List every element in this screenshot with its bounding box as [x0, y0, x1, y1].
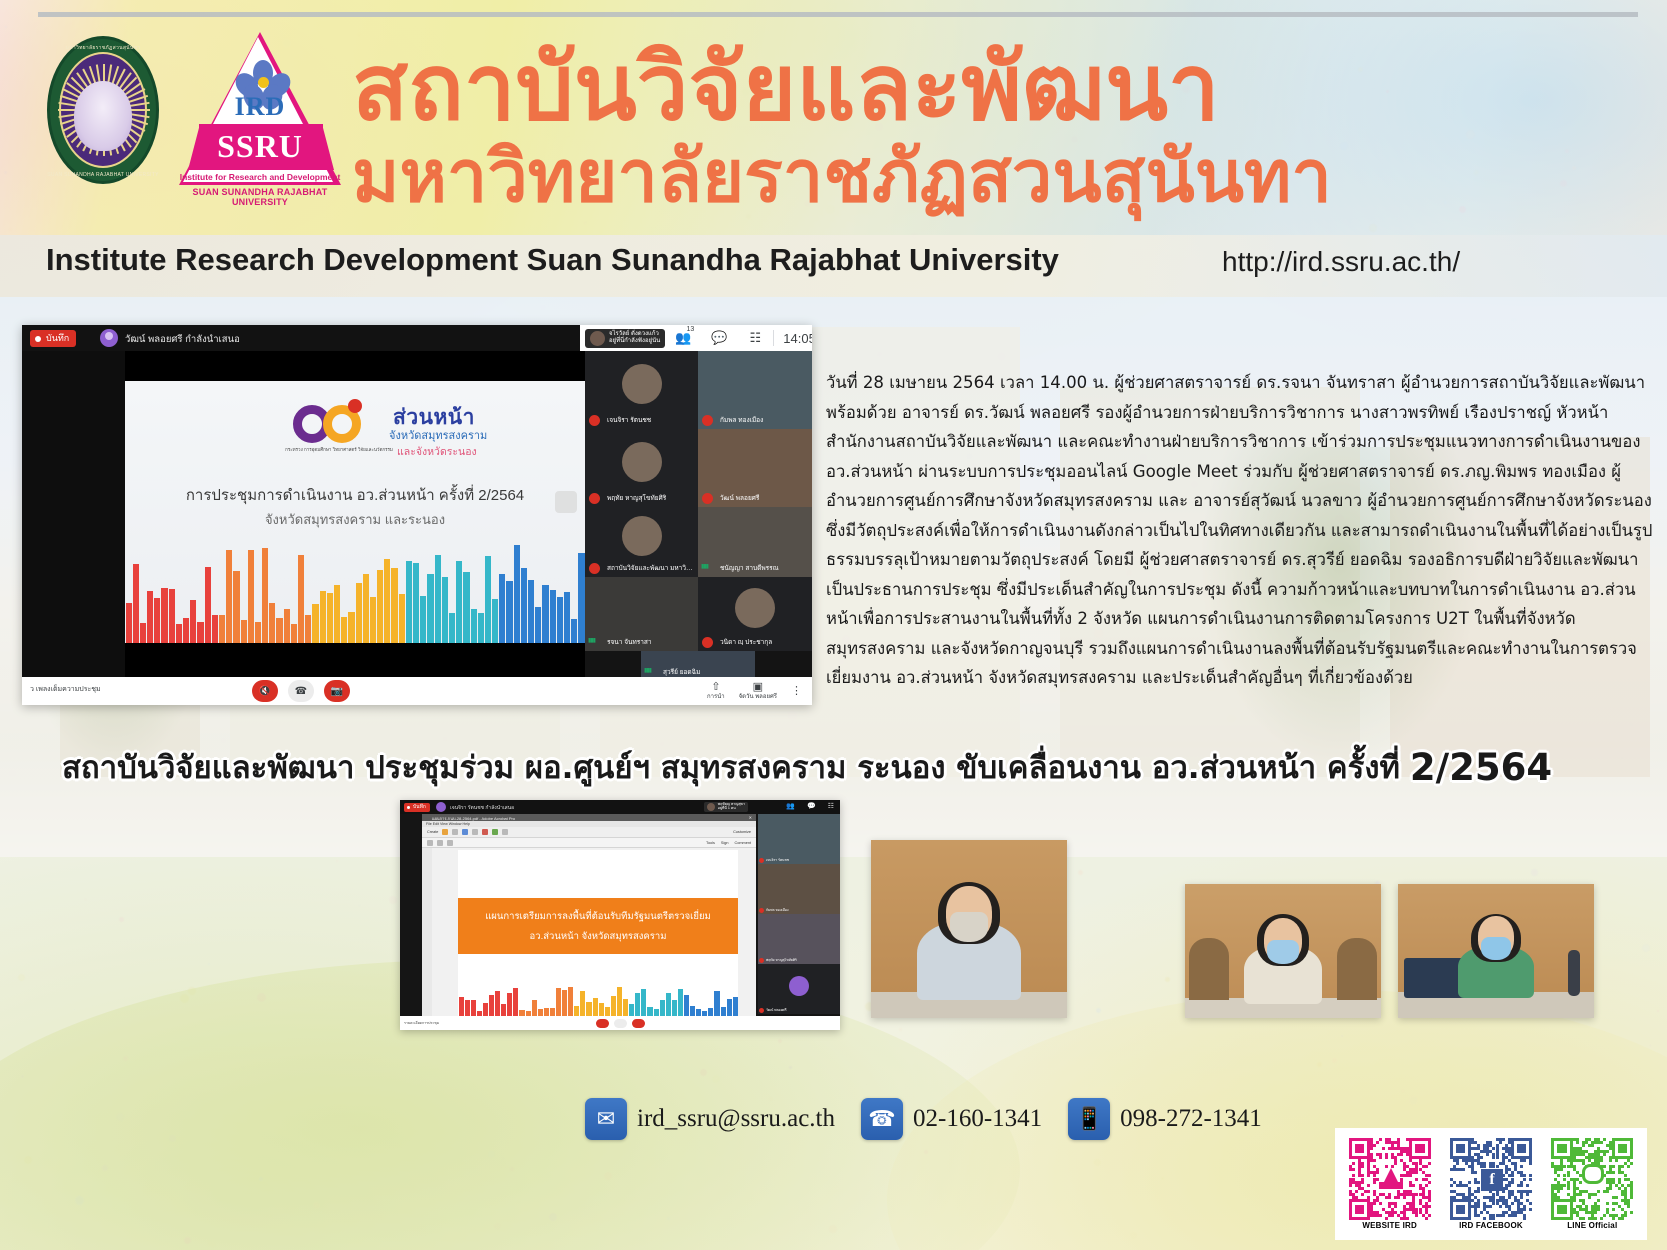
shot2-mic-muted-icon	[759, 1008, 764, 1013]
contact-phone[interactable]: ☎ 02-160-1341	[861, 1098, 1042, 1140]
mobile-value: 098-272-1341	[1120, 1105, 1262, 1133]
participant-tile[interactable]: เจนจิรา รัตนชช	[585, 351, 698, 429]
leave-call-button[interactable]: ☎	[288, 680, 314, 702]
university-seal-icon: มหาวิทยาลัยราชภัฏสวนสุนันทา SUAN SUNANDH…	[47, 36, 159, 184]
ministry-caption: กระทรวง การอุดมศึกษา วิทยาศาสตร์ วิจัยแล…	[275, 447, 403, 453]
recording-label: บันทึก	[46, 333, 69, 343]
participant-tile[interactable]: ชนัญญา สาบดีพรรณ	[698, 507, 812, 577]
shot2-pinned-line2: อยู่ที่นี่ 1 คน	[718, 807, 745, 811]
mute-microphone-button[interactable]: 🔇	[252, 680, 278, 702]
participant-name: กัมพล ทองเมือง	[720, 415, 763, 425]
line-icon	[1582, 1164, 1604, 1184]
participant-avatar	[622, 442, 662, 482]
contact-mobile[interactable]: 📱 098-272-1341	[1068, 1098, 1262, 1140]
recording-badge: บันทึก	[30, 330, 76, 347]
participant-avatar	[622, 516, 662, 556]
acrobat-fit-icon[interactable]	[447, 840, 453, 846]
ird-logo: IRD SSRU Institute for Research and Deve…	[175, 32, 345, 204]
shot2-presenter-avatar	[436, 802, 446, 812]
slide-subheading-1: จังหวัดสมุทรสงคราม	[389, 426, 487, 444]
qr-line-official[interactable]: LINE Official	[1551, 1138, 1633, 1230]
acrobat-tool-icon[interactable]	[472, 829, 478, 835]
mic-active-icon	[589, 637, 600, 648]
mic-muted-icon	[702, 637, 713, 648]
participant-tile[interactable]: กัมพล ทองเมือง	[698, 351, 812, 429]
participant-name: ชนัญญา สาบดีพรรณ	[720, 563, 779, 573]
shot2-participant-tile[interactable]: พฤทัย หาญสุโขทัยศิริ	[758, 914, 840, 964]
qr-ird-facebook[interactable]: f IRD FACEBOOK	[1450, 1138, 1532, 1230]
acrobat-tools-tab[interactable]: Tools	[706, 841, 715, 845]
participant-avatar	[622, 364, 662, 404]
qr-label: WEBSITE IRD	[1349, 1221, 1431, 1230]
acrobat-tool-icon[interactable]	[452, 829, 458, 835]
article-body: วันที่ 28 เมษายน 2564 เวลา 14.00 น. ผู้ช…	[826, 368, 1656, 693]
present-now-button[interactable]: ⇧การนำ	[707, 680, 725, 702]
ird-university-line: SUAN SUNANDHA RAJABHAT UNIVERSITY	[167, 187, 353, 207]
shot2-participant-name: วัฒน์ พลอยศรี	[766, 1008, 787, 1013]
participant-name: สถาบันวิจัยและพัฒนา มหาวิทยาล...	[607, 563, 694, 573]
participant-tile[interactable]: วัฒน์ พลอยศรี	[698, 429, 812, 507]
shot2-people-icon[interactable]: 👥	[786, 802, 795, 810]
shot2-mute-button[interactable]	[596, 1019, 609, 1028]
pdf-banner: แผนการเตรียมการลงพื้นที่ต้อนรับทีมรัฐมนต…	[458, 898, 738, 954]
shot2-activities-icon[interactable]: ☷	[828, 802, 834, 810]
presented-slide: กระทรวง การอุดมศึกษา วิทยาศาสตร์ วิจัยแล…	[125, 381, 585, 643]
participant-name: วนิดา ญฺ ประชากุล	[720, 637, 772, 647]
shot2-participant-tile[interactable]: วัฒน์ พลอยศรี	[758, 964, 840, 1014]
qr-code-panel: WEBSITE IRD f IRD FACEBOOK LINE Official	[1335, 1128, 1647, 1240]
acrobat-sidebar[interactable]	[422, 848, 432, 1030]
mic-muted-icon	[589, 493, 600, 504]
shot2-mic-muted-icon	[759, 858, 764, 863]
participant-count: 13	[687, 326, 695, 333]
shot2-mic-muted-icon	[759, 958, 764, 963]
contact-row: ✉ ird_ssru@ssru.ac.th ☎ 02-160-1341 📱 09…	[585, 1098, 1262, 1140]
mic-muted-icon	[702, 415, 713, 426]
qr-label: LINE Official	[1551, 1221, 1633, 1230]
slide-subtitle: จังหวัดสมุทรสงคราม และระนอง	[125, 509, 585, 530]
acrobat-tool-icon[interactable]	[482, 829, 488, 835]
participant-name: รจนา จันทราสา	[607, 637, 652, 647]
mic-active-icon	[702, 563, 713, 574]
page-title-thai-line1: สถาบันวิจัยและพัฒนา	[352, 42, 1220, 134]
poster-canvas: มหาวิทยาลัยราชภัฏสวนสุนันทา SUAN SUNANDH…	[0, 0, 1667, 1250]
pinned-name-line2: อยู่ที่นี่กำลังฟังอยู่นัน	[609, 338, 660, 345]
pdf-banner-line2: อว.ส่วนหน้า จังหวัดสมุทรสงคราม	[530, 929, 667, 944]
shot2-top-bar: บันทึก เจนจิรา รัตนชช กำลังนำเสนอ พฤทัยญ…	[400, 800, 840, 814]
meet-bottom-bar: ว เพลงเต็มความประชุม 🔇 ☎ 📷 ⇧การนำ ▣จัดวั…	[22, 677, 812, 705]
acrobat-toolbar-row1: Create Customize	[422, 827, 756, 838]
qr-label: IRD FACEBOOK	[1450, 1221, 1532, 1230]
shot2-pinned-chip[interactable]: พฤทัยญ หาญสุขา อยู่ที่นี่ 1 คน	[704, 802, 748, 812]
acrobat-customize-button[interactable]: Customize	[733, 830, 751, 834]
meet-header-right: จไรวัลย์ ดั่งดวงแก้ว อยู่ที่นี่กำลังฟังอ…	[580, 325, 812, 351]
slide-subheading-2: และจังหวัดระนอง	[397, 443, 477, 460]
shot2-presenter-status: เจนจิรา รัตนชช กำลังนำเสนอ	[450, 804, 514, 812]
ssru-wordmark: SSRU	[175, 128, 345, 165]
acrobat-create-button[interactable]: Create	[427, 830, 438, 834]
website-url[interactable]: http://ird.ssru.ac.th/	[1222, 246, 1460, 278]
mic-muted-icon	[589, 415, 600, 426]
google-meet-screenshot: บันทึก วัฒน์ พลอยศรี กำลังนำเสนอ จไรวัลย…	[22, 325, 812, 705]
email-value: ird_ssru@ssru.ac.th	[637, 1105, 835, 1133]
participant-tile[interactable]: วนิดา ญฺ ประชากุล	[698, 577, 812, 651]
shot2-recording-badge: บันทึก	[404, 803, 430, 812]
acrobat-tool-icon[interactable]	[502, 829, 508, 835]
acrobat-tool-icon[interactable]	[462, 829, 468, 835]
participant-tile[interactable]: พฤทัย หาญสุโขทัยศิริ	[585, 429, 698, 507]
sixty-anniversary-logo: กระทรวง การอุดมศึกษา วิทยาศาสตร์ วิจัยแล…	[293, 399, 385, 449]
shot2-mic-muted-icon	[759, 908, 764, 913]
participant-avatar	[735, 588, 775, 628]
presenting-indicator[interactable]: ▣จัดวัน พลอยศรี	[739, 680, 777, 702]
slide-title: การประชุมการดำเนินงาน อว.ส่วนหน้า ครั้งท…	[125, 483, 585, 507]
mic-muted-icon	[589, 563, 600, 574]
ird-mark-icon	[1378, 1168, 1404, 1190]
adobe-acrobat-window: แผนการ-กนบ-28-2564.pdf - Adobe Acrobat P…	[422, 814, 756, 1030]
poster-header: มหาวิทยาลัยราชภัฏสวนสุนันทา SUAN SUNANDH…	[0, 0, 1667, 300]
ird-wordmark: IRD	[175, 92, 345, 122]
mic-muted-icon	[702, 493, 713, 504]
telephone-icon: ☎	[861, 1098, 903, 1140]
meeting-clock: 14:05	[774, 331, 812, 346]
record-dot-icon	[35, 336, 41, 342]
seal-text-bottom: SUAN SUNANDHA RAJABHAT UNIVERSITY	[47, 172, 159, 178]
shot2-leave-button[interactable]	[614, 1019, 627, 1028]
shot2-bottom-bar: รายละเอียดการประชุม	[400, 1016, 840, 1030]
presenter-status: วัฒน์ พลอยศรี กำลังนำเสนอ	[125, 332, 240, 347]
participant-name: พฤทัย หาญสุโขทัยศิริ	[607, 493, 666, 503]
facebook-icon: f	[1481, 1169, 1503, 1191]
caption-bar: สถาบันวิจัยและพัฒนา ประชุมร่วม ผอ.ศูนย์ฯ…	[0, 738, 1667, 796]
acrobat-zoom-icon[interactable]	[437, 840, 443, 846]
caption-issue-number: 2/2564	[1410, 746, 1552, 789]
shot2-participant-tile[interactable]: เจนจิรา รัตนชช	[758, 814, 840, 864]
caption-text: สถาบันวิจัยและพัฒนา ประชุมร่วม ผอ.ศูนย์ฯ…	[62, 742, 1400, 792]
acrobat-comment-tab[interactable]: Comment	[735, 841, 751, 845]
slide-next-button[interactable]	[555, 491, 577, 513]
acrobat-tool-icon[interactable]	[442, 829, 448, 835]
slide-decorative-bars	[125, 535, 585, 643]
acrobat-toolbar-row2: Tools Sign Comment	[422, 838, 756, 848]
people-icon[interactable]: 👥13	[665, 330, 701, 346]
phone-value: 02-160-1341	[913, 1105, 1042, 1133]
participant-grid: เจนจิรา รัตนชชกัมพล ทองเมืองพฤทัย หาญสุโ…	[585, 351, 812, 681]
contact-email[interactable]: ✉ ird_ssru@ssru.ac.th	[585, 1098, 835, 1140]
pinned-avatar	[590, 331, 605, 346]
page-title-english: Institute Research Development Suan Suna…	[46, 242, 1059, 278]
presenter-avatar	[100, 329, 118, 347]
shot2-participant-name: กัมพล ทองเมือง	[766, 908, 789, 913]
seal-text-top: มหาวิทยาลัยราชภัฏสวนสุนันทา	[47, 44, 159, 52]
turn-off-camera-button[interactable]: 📷	[324, 680, 350, 702]
acrobat-meet-screenshot: บันทึก เจนจิรา รัตนชช กำลังนำเสนอ พฤทัยญ…	[400, 800, 840, 1030]
shot2-participant-tile[interactable]: กัมพล ทองเมือง	[758, 864, 840, 914]
shot2-participant-name: เจนจิรา รัตนชช	[766, 858, 789, 863]
participant-name: เจนจิรา รัตนชช	[607, 415, 651, 425]
acrobat-sign-tab[interactable]: Sign	[721, 841, 729, 845]
pinned-name-line1: จไรวัลย์ ดั่งดวงแก้ว	[609, 331, 660, 338]
ird-tagline: Institute for Research and Development	[175, 172, 345, 182]
qr-code-image	[1551, 1138, 1633, 1220]
qr-code-image	[1349, 1138, 1431, 1220]
acrobat-tool-icon[interactable]	[492, 829, 498, 835]
shot2-participant-grid: เจนจิรา รัตนชช กัมพล ทองเมือง พฤทัย หาญส…	[758, 814, 840, 1016]
photo-participant-2	[1185, 884, 1381, 1018]
qr-code-image: f	[1450, 1138, 1532, 1220]
pinned-participant-chip[interactable]: จไรวัลย์ ดั่งดวงแก้ว อยู่ที่นี่กำลังฟังอ…	[585, 329, 665, 348]
participant-tile[interactable]: สถาบันวิจัยและพัฒนา มหาวิทยาล...	[585, 507, 698, 577]
participant-name: วัฒน์ พลอยศรี	[720, 493, 759, 503]
acrobat-titlebar: แผนการ-กนบ-28-2564.pdf - Adobe Acrobat P…	[422, 814, 756, 821]
acrobat-nav-icon[interactable]	[427, 840, 433, 846]
page-title-thai-line2: มหาวิทยาลัยราชภัฏสวนสุนันทา	[352, 140, 1332, 212]
mobile-phone-icon: 📱	[1068, 1098, 1110, 1140]
chat-icon[interactable]: 💬	[701, 330, 737, 346]
pdf-banner-line1: แผนการเตรียมการลงพื้นที่ต้อนรับทีมรัฐมนต…	[485, 909, 711, 924]
acrobat-close-icon[interactable]: ✕	[749, 815, 752, 820]
photo-participant-1	[871, 840, 1067, 1018]
shot2-participant-name: พฤทัย หาญสุโขทัยศิริ	[766, 958, 797, 963]
shot2-camera-button[interactable]	[632, 1019, 645, 1028]
presentation-stage: กระทรวง การอุดมศึกษา วิทยาศาสตร์ วิจัยแล…	[125, 351, 585, 681]
participant-tile[interactable]: รจนา จันทราสา	[585, 577, 698, 651]
shot2-chat-icon[interactable]: 💬	[807, 802, 816, 810]
qr-website-ird[interactable]: WEBSITE IRD	[1349, 1138, 1431, 1230]
envelope-icon: ✉	[585, 1098, 627, 1140]
participant-name: สุวรีย์ ยอดฉิม	[663, 667, 700, 677]
more-options-button[interactable]: ⋮	[791, 684, 802, 698]
activities-icon[interactable]: ☷	[737, 330, 773, 346]
photo-participant-3	[1398, 884, 1594, 1018]
pdf-page: แผนการเตรียมการลงพื้นที่ต้อนรับทีมรัฐมนต…	[458, 850, 738, 1030]
